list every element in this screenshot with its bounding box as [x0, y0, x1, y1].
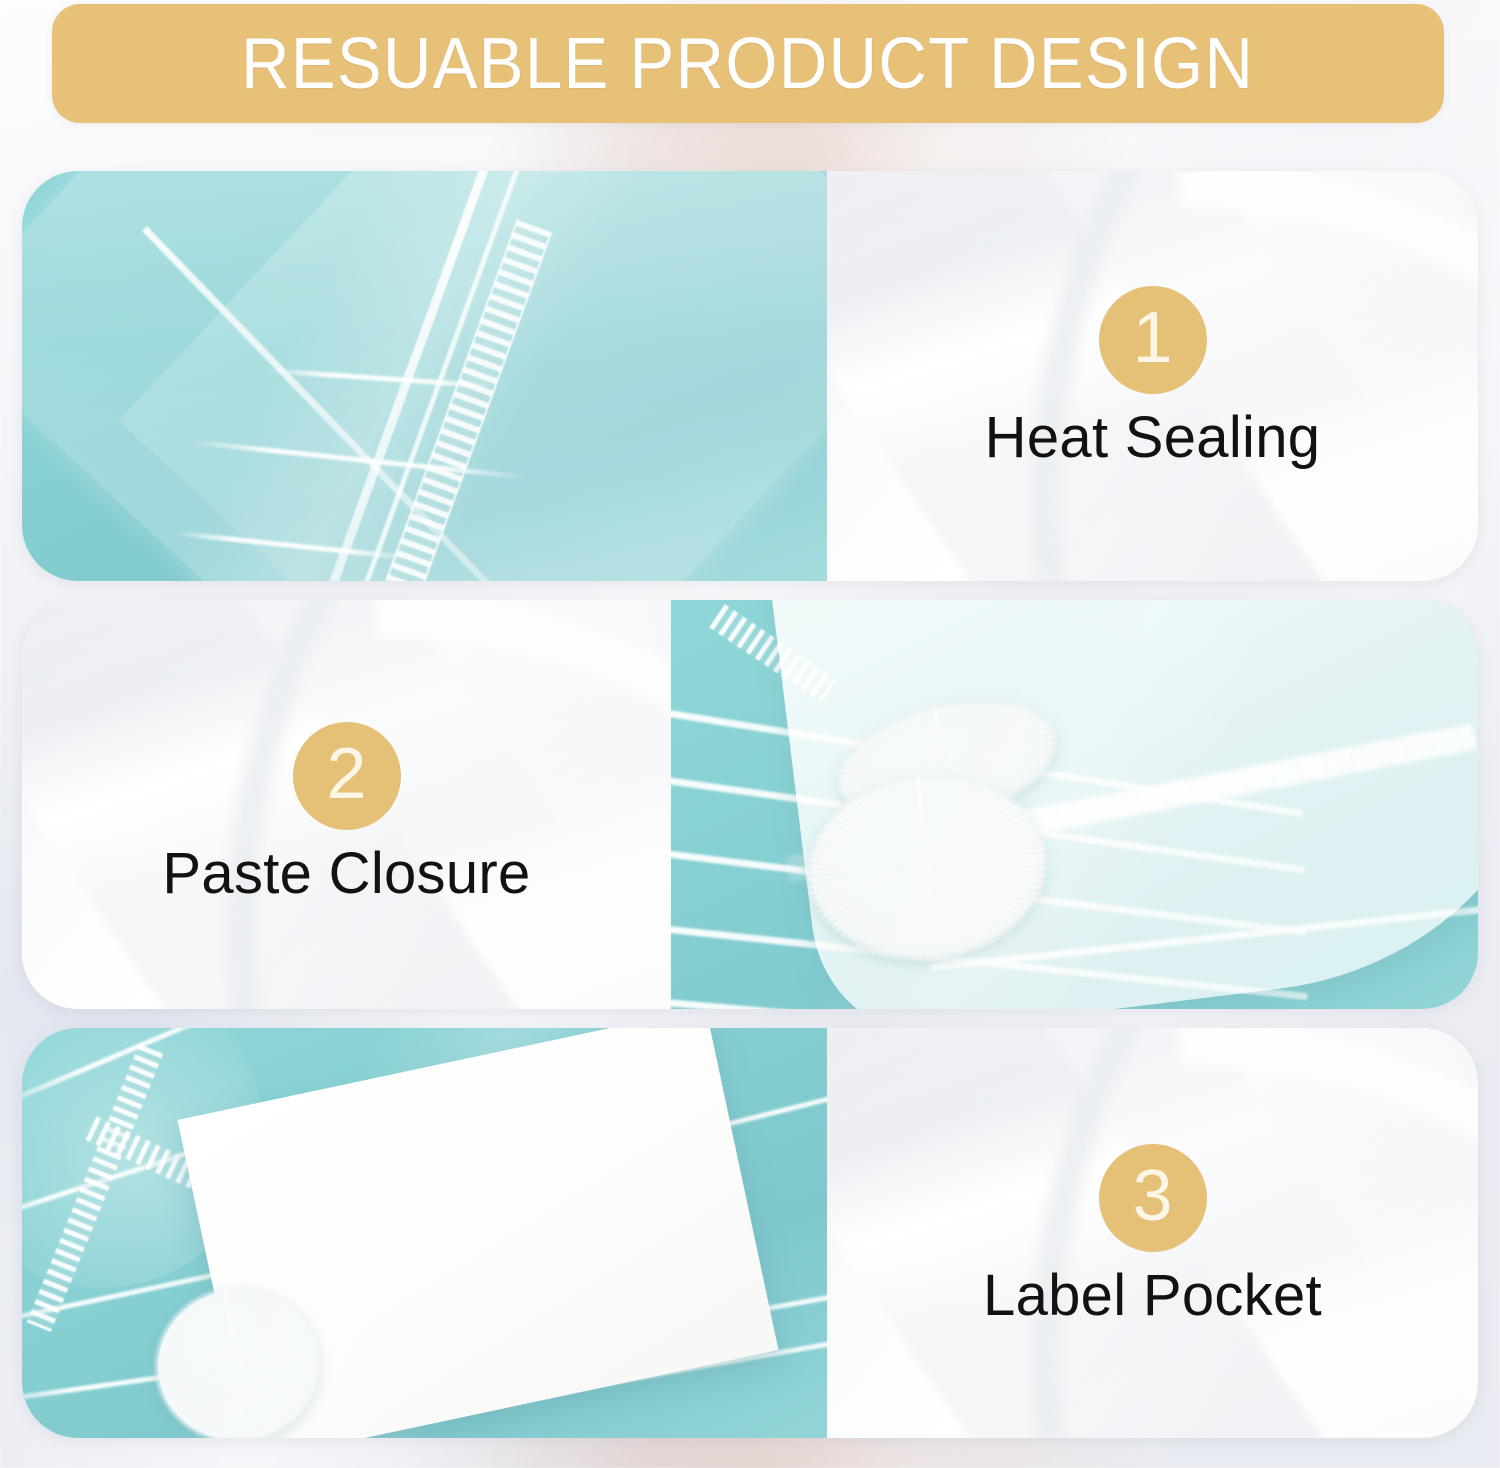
step-label: Label Pocket [983, 1264, 1322, 1328]
step-number-badge: 1 [1099, 286, 1207, 394]
step-card-3: 3 Label Pocket [22, 1028, 1478, 1438]
step-1-block: 1 Heat Sealing [827, 286, 1478, 470]
step-number-badge: 2 [293, 722, 401, 830]
step-card-1: 1 Heat Sealing [22, 171, 1478, 581]
step-label: Heat Sealing [985, 406, 1321, 470]
step-3-text-panel: 3 Label Pocket [827, 1028, 1478, 1438]
step-1-photo [22, 171, 827, 581]
header-banner: RESUABLE PRODUCT DESIGN [52, 4, 1444, 123]
steps-container: 1 Heat Sealing 2 Paste Closure [22, 171, 1478, 1438]
step-3-photo [22, 1028, 827, 1438]
step-number-badge: 3 [1099, 1144, 1207, 1252]
step-label: Paste Closure [162, 842, 530, 906]
step-card-2: 2 Paste Closure [22, 600, 1478, 1010]
infographic-page: RESUABLE PRODUCT DESIGN [0, 0, 1500, 1468]
step-1-text-panel: 1 Heat Sealing [827, 171, 1478, 581]
page-title: RESUABLE PRODUCT DESIGN [241, 28, 1254, 100]
step-2-photo [671, 600, 1478, 1010]
step-3-block: 3 Label Pocket [827, 1144, 1478, 1328]
step-2-block: 2 Paste Closure [22, 722, 671, 906]
step-2-text-panel: 2 Paste Closure [22, 600, 671, 1010]
